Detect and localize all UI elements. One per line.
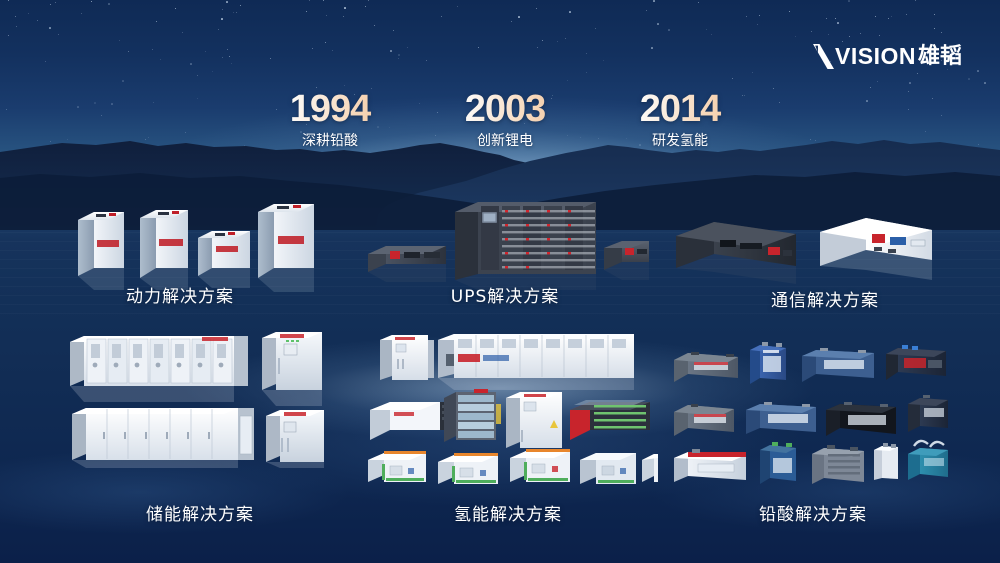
solution-power[interactable]: 动力解决方案 xyxy=(60,198,320,298)
slide-canvas: VISION 雄韬 1994 深耕铅酸 2003 创新锂电 2014 研发氢能 xyxy=(0,0,1000,563)
timeline-year: 1994 xyxy=(240,88,420,130)
telecom-rack-batteries-image xyxy=(670,210,940,294)
solution-ups[interactable]: UPS解决方案 xyxy=(360,196,650,296)
lead-acid-battery-grid-image xyxy=(668,340,948,488)
timeline-year: 2003 xyxy=(415,88,595,130)
solution-label-ups: UPS解决方案 xyxy=(365,282,645,307)
timeline-subtitle: 创新锂电 xyxy=(415,131,595,151)
white-battery-modules-image xyxy=(60,198,320,294)
solution-label-power: 动力解决方案 xyxy=(50,282,310,307)
timeline-subtitle: 深耕铅酸 xyxy=(240,131,420,151)
logo-text: VISION xyxy=(835,44,916,69)
solution-label-telecom: 通信解决方案 xyxy=(745,286,905,311)
timeline-item-2003[interactable]: 2003 创新锂电 xyxy=(415,88,595,151)
timeline-year: 2014 xyxy=(590,88,770,130)
brand-logo[interactable]: VISION 雄韬 xyxy=(813,42,962,70)
timeline-item-2014[interactable]: 2014 研发氢能 xyxy=(590,88,770,151)
solution-telecom[interactable]: 通信解决方案 xyxy=(670,210,940,300)
solution-label-storage: 储能解决方案 xyxy=(110,500,290,525)
solution-hydrogen[interactable]: 氢能解决方案 xyxy=(358,332,658,512)
storage-cabinet-arrays-image xyxy=(62,328,352,468)
timeline-item-1994[interactable]: 1994 深耕铅酸 xyxy=(240,88,420,151)
solution-storage[interactable]: 储能解决方案 xyxy=(62,328,352,508)
timeline: 1994 深耕铅酸 2003 创新锂电 2014 研发氢能 xyxy=(0,88,1000,150)
logo-text-cn: 雄韬 xyxy=(918,44,962,69)
solution-label-leadacid: 铅酸解决方案 xyxy=(728,500,898,525)
timeline-subtitle: 研发氢能 xyxy=(590,131,770,151)
v-chevron-icon xyxy=(813,44,834,69)
ups-rack-cabinets-image xyxy=(360,196,650,292)
solution-leadacid[interactable]: 铅酸解决方案 xyxy=(668,340,948,510)
hydrogen-fuelcell-systems-image xyxy=(358,332,658,492)
solution-label-hydrogen: 氢能解决方案 xyxy=(418,500,598,525)
